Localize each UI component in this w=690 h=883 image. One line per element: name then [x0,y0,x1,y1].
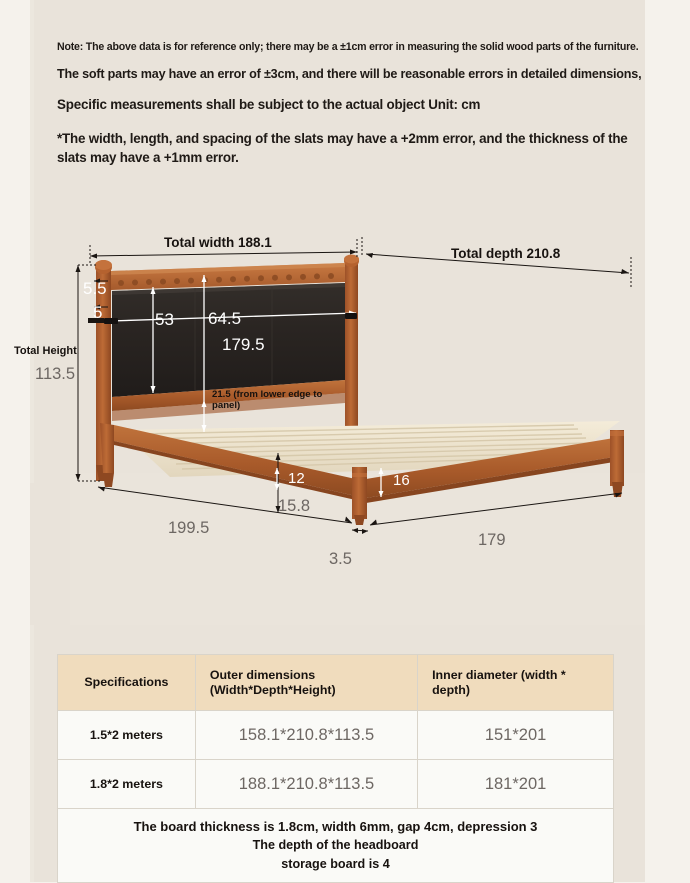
anchor-nub-right [345,313,357,319]
table-row: 1.8*2 meters 188.1*210.8*113.5 181*201 [58,760,614,809]
table-footer-row: The board thickness is 1.8cm, width 6mm,… [58,809,614,883]
value-total-height: 113.5 [35,365,75,384]
note-line-1: Note: The above data is for reference on… [57,40,682,54]
specifications-table: Specifications Outer dimensions (Width*D… [57,654,614,883]
note-line-3: Specific measurements shall be subject t… [57,96,682,113]
dim-5: 5 [93,303,102,323]
bed-dimension-diagram: Total width 188.1 Total depth 210.8 Tota… [0,225,690,625]
notes-block: Note: The above data is for reference on… [57,40,682,167]
table-row: 1.5*2 meters 158.1*210.8*113.5 151*201 [58,711,614,760]
footer-line-3: storage board is 4 [62,855,609,874]
row-0-spec: 1.5*2 meters [58,711,196,760]
label-total-depth: Total depth 210.8 [451,246,560,261]
row-1-spec: 1.8*2 meters [58,760,196,809]
page-root: Note: The above data is for reference on… [0,0,690,882]
row-0-outer: 158.1*210.8*113.5 [195,711,417,760]
dim-12: 12 [288,470,305,487]
dim-3-5: 3.5 [329,550,352,569]
anchor-nub-left [104,318,118,324]
header-outer-dimensions: Outer dimensions (Width*Depth*Height) [195,655,417,711]
label-total-width: Total width 188.1 [164,235,272,250]
row-0-inner: 151*201 [418,711,614,760]
dim-21-5: 21.5 (from lower edge to panel) [212,389,334,411]
header-inner-diameter: Inner diameter (width * depth) [418,655,614,711]
table-header-row: Specifications Outer dimensions (Width*D… [58,655,614,711]
note-line-2: The soft parts may have an error of ±3cm… [57,66,682,82]
header-specifications: Specifications [58,655,196,711]
table-footer-cell: The board thickness is 1.8cm, width 6mm,… [58,809,614,883]
label-total-height: Total Height [14,345,77,357]
dim-64-5: 64.5 [208,309,241,329]
dim-16: 16 [393,472,410,489]
dim-179: 179 [478,531,506,550]
dim-179-5: 179.5 [222,335,265,355]
dim-5-5: 5.5 [83,279,107,299]
footer-line-1: The board thickness is 1.8cm, width 6mm,… [62,817,609,836]
footer-line-2: The depth of the headboard [62,836,609,855]
dim-53: 53 [155,310,174,330]
dim-199-5: 199.5 [168,519,209,538]
row-1-outer: 188.1*210.8*113.5 [195,760,417,809]
note-line-4: *The width, length, and spacing of the s… [57,129,637,167]
dim-15-8: 15.8 [278,497,310,516]
row-1-inner: 181*201 [418,760,614,809]
